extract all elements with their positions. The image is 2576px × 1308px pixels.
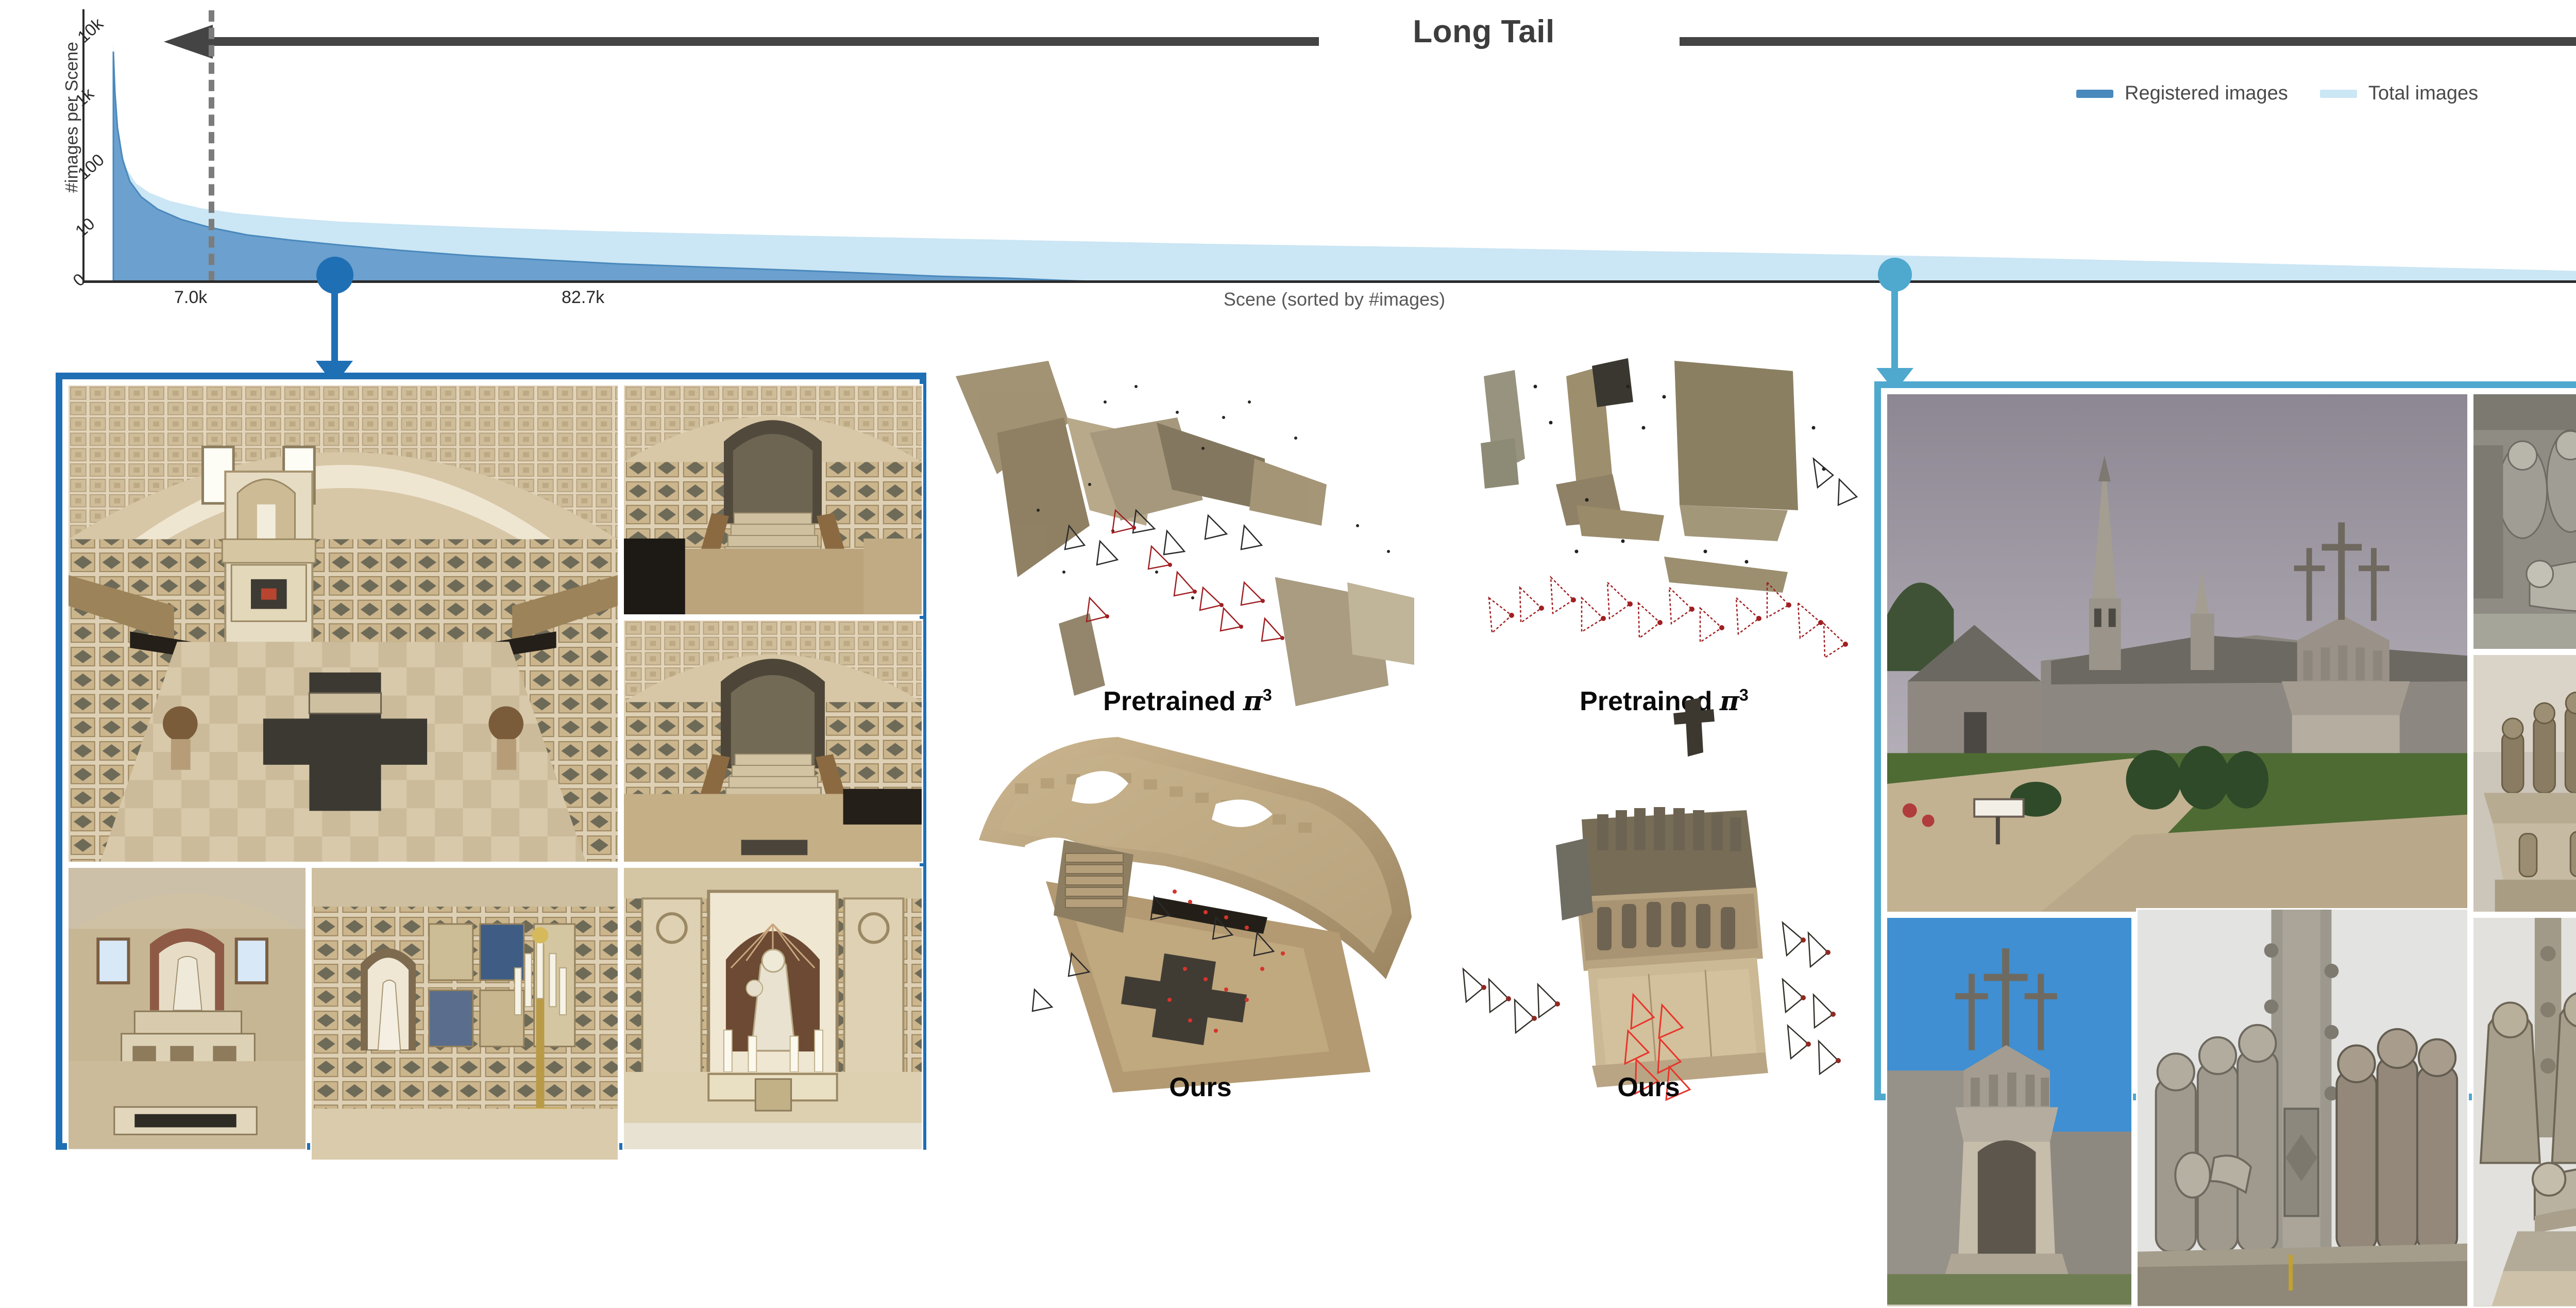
right-photo-collage — [1886, 393, 2576, 1089]
pointcloud-label-ours-left: Ours — [948, 1072, 1453, 1103]
x-axis-label: Scene (sorted by #images) — [1025, 289, 1643, 310]
cutoff-dashed-line — [209, 10, 214, 282]
series-total-images — [113, 40, 2576, 281]
left-photo-panel[interactable] — [56, 373, 926, 1150]
photo-chapel-nave — [67, 384, 619, 863]
photo-chapel-stairs-a — [622, 384, 923, 616]
x-axis-line — [82, 280, 2576, 283]
x-tick-7k: 7.0k — [174, 288, 207, 308]
pointcloud-ours-right: Ours — [1427, 691, 1870, 1103]
pointcloud-ours-left: Ours — [948, 711, 1453, 1103]
pointcloud-label-ours-right: Ours — [1427, 1072, 1870, 1103]
pointcloud-pretrained-left: Pretrained π3 — [935, 356, 1440, 711]
y-axis-line — [82, 9, 84, 282]
photo-calvary-blue-sky — [1886, 916, 2133, 1308]
right-photo-panel[interactable] — [1874, 381, 2576, 1100]
x-tick-82-7k: 82.7k — [562, 288, 604, 308]
photo-chapel-stairs-b — [622, 619, 923, 863]
long-tail-chart: Long Tail Registered images Total images… — [0, 0, 2576, 330]
photo-church-calvary-wide — [1886, 393, 2469, 913]
pointcloud-pretrained-right: Pretrained π3 — [1458, 356, 1870, 711]
area-series-svg — [82, 9, 2576, 282]
photo-entombment-group — [2472, 916, 2576, 1308]
photo-marble-wall-candelabra — [310, 866, 619, 1161]
photo-madonna-niche — [622, 866, 923, 1151]
chart-plot-area: #images per Scene 10k 1k 100 10 0 7.0k 8… — [82, 9, 2576, 282]
photo-altar-lamps — [67, 866, 307, 1151]
photo-calvary-soldiers-closeup — [2136, 908, 2469, 1308]
photo-calvary-frieze-top — [2472, 653, 2576, 913]
photo-stone-relief-entombment — [2472, 393, 2576, 650]
examples-region: Pretrained π3 — [0, 330, 2576, 1173]
left-photo-collage — [67, 384, 915, 1138]
